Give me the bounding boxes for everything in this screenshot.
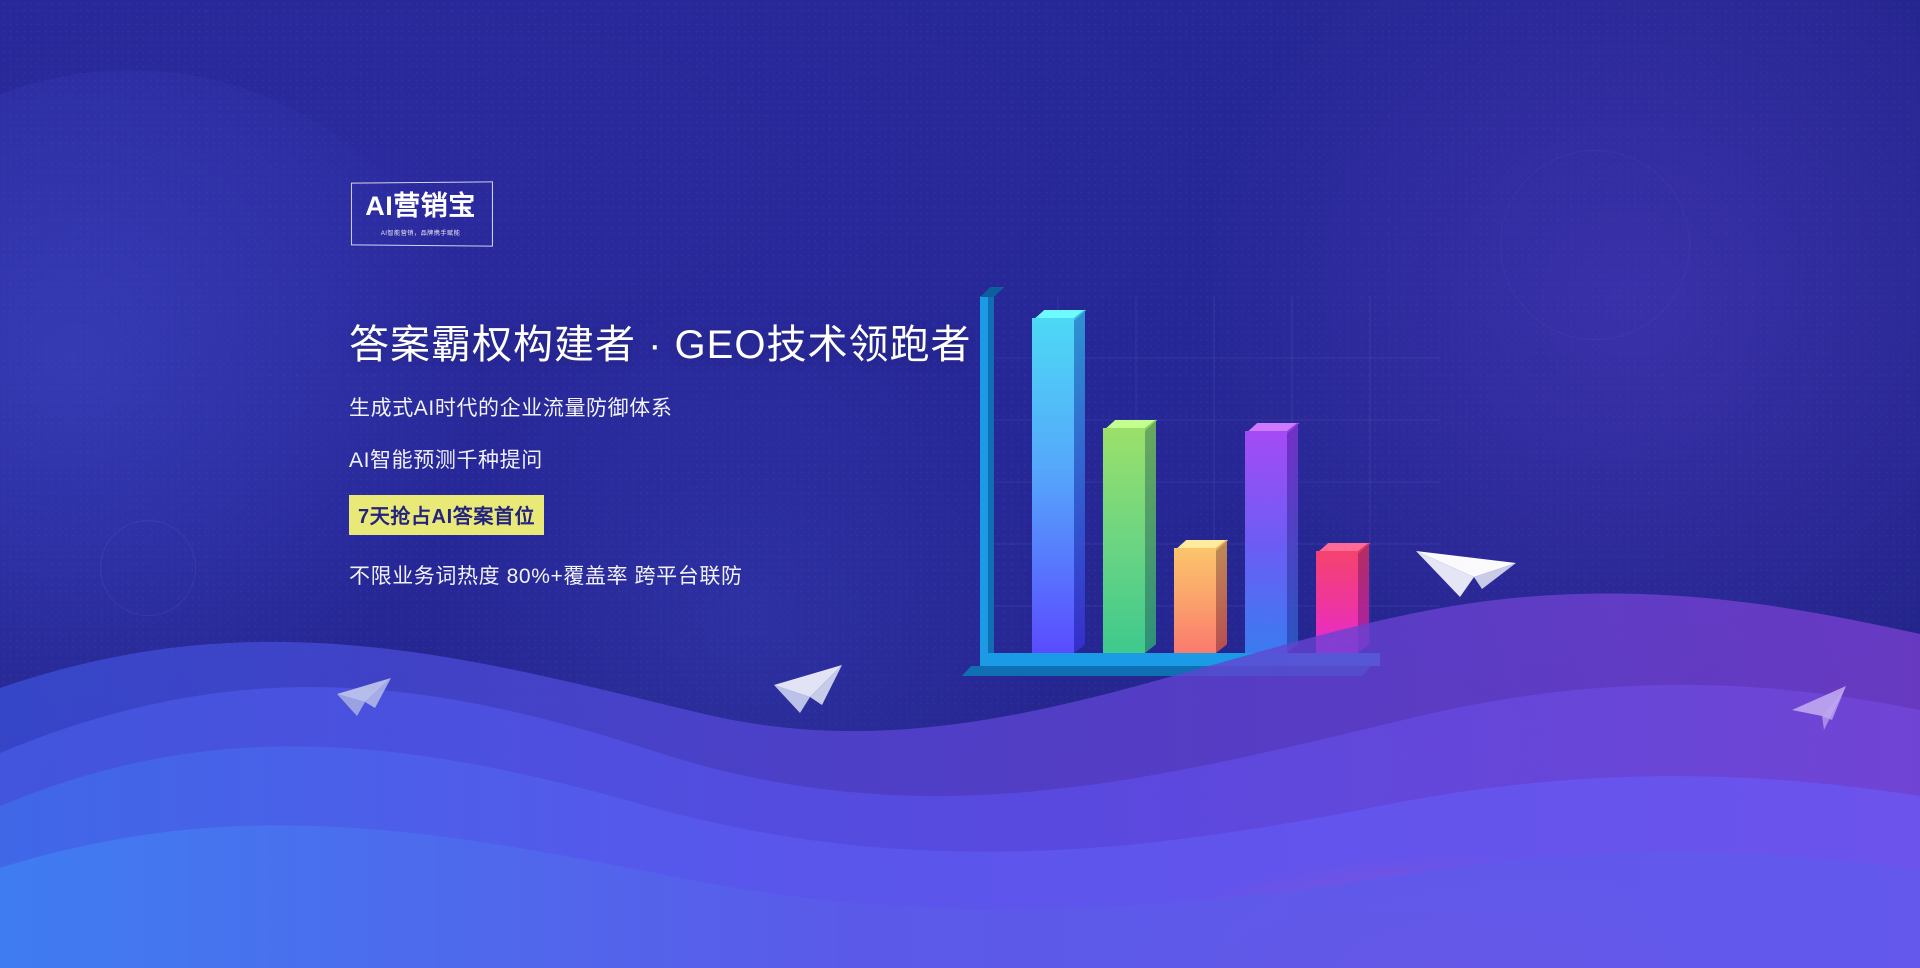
hero-highlight-badge: 7天抢占AI答案首位 bbox=[349, 495, 544, 535]
logo[interactable]: AI营销宝 AI智能营销，品牌携手赋能 bbox=[349, 182, 492, 246]
hero-headline: 答案霸权构建者 · GEO技术领跑者 bbox=[349, 322, 1069, 369]
hero-highlight-row: 7天抢占AI答案首位 bbox=[349, 495, 1069, 535]
wave-decoration bbox=[0, 538, 1920, 968]
logo-wordmark: AI营销宝 bbox=[349, 193, 492, 220]
decorative-circle-3 bbox=[1500, 150, 1690, 340]
logo-tagline: AI智能营销，品牌携手赋能 bbox=[352, 227, 489, 237]
hero-banner: AI营销宝 AI智能营销，品牌携手赋能 答案霸权构建者 · GEO技术领跑者 生… bbox=[0, 0, 1920, 968]
hero-copy: 答案霸权构建者 · GEO技术领跑者 生成式AI时代的企业流量防御体系 AI智能… bbox=[349, 322, 1069, 590]
hero-subline-2: AI智能预测千种提问 bbox=[349, 444, 1069, 474]
hero-footline: 不限业务词热度 80%+覆盖率 跨平台联防 bbox=[349, 560, 1069, 590]
hero-subline-1: 生成式AI时代的企业流量防御体系 bbox=[349, 392, 1069, 422]
